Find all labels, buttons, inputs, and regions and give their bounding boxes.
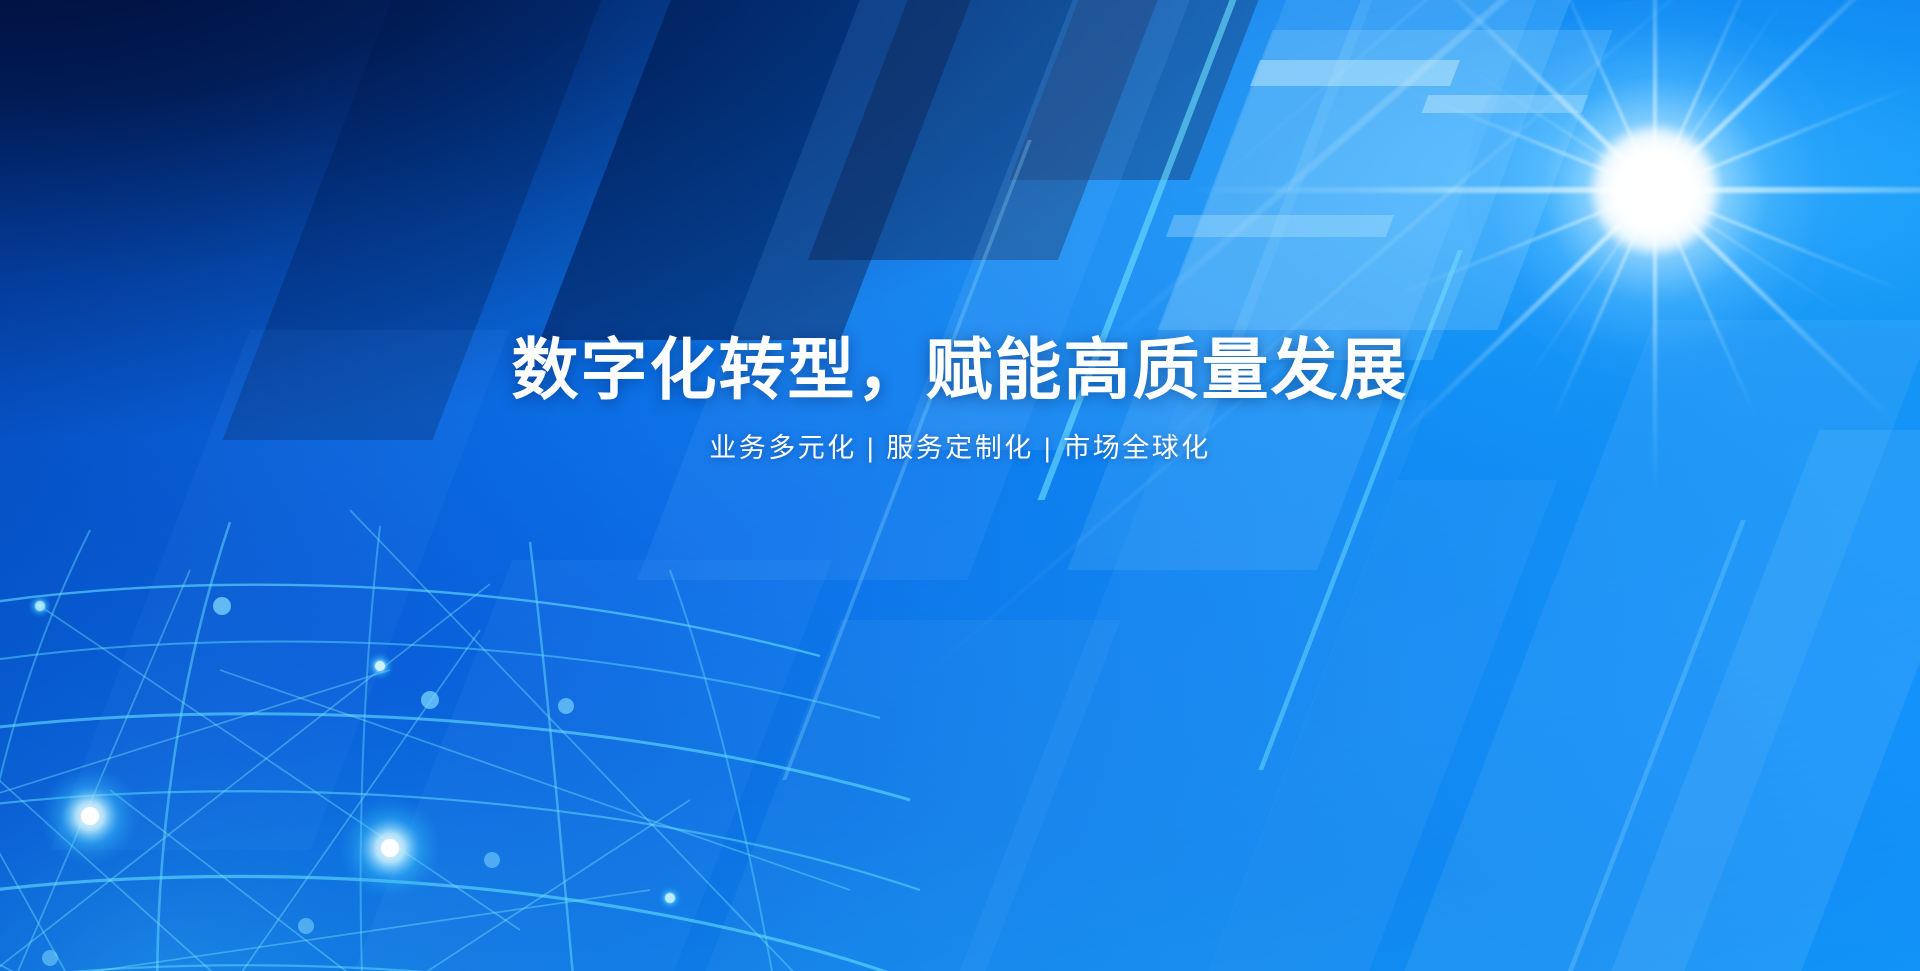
globe-node xyxy=(213,597,231,615)
globe-node xyxy=(366,652,394,680)
banner-copy-block: 数字化转型，赋能高质量发展 业务多元化 | 服务定制化 | 市场全球化 xyxy=(0,336,1920,464)
diagonal-light-ray xyxy=(902,247,1417,695)
globe-node xyxy=(40,766,140,866)
page-title: 数字化转型，赋能高质量发展 xyxy=(0,336,1920,406)
globe-node xyxy=(298,918,314,934)
globe-node xyxy=(558,698,574,714)
globe-node xyxy=(484,852,500,868)
globe-node xyxy=(421,691,439,709)
globe-node xyxy=(42,950,58,966)
globe-node xyxy=(338,796,442,900)
globe-node xyxy=(658,886,682,910)
page-subtitle: 业务多元化 | 服务定制化 | 市场全球化 xyxy=(0,432,1920,464)
diagonal-light-ray xyxy=(1088,0,1772,361)
banner-canvas: 数字化转型，赋能高质量发展 业务多元化 | 服务定制化 | 市场全球化 xyxy=(0,0,1920,971)
globe-node xyxy=(28,594,52,618)
